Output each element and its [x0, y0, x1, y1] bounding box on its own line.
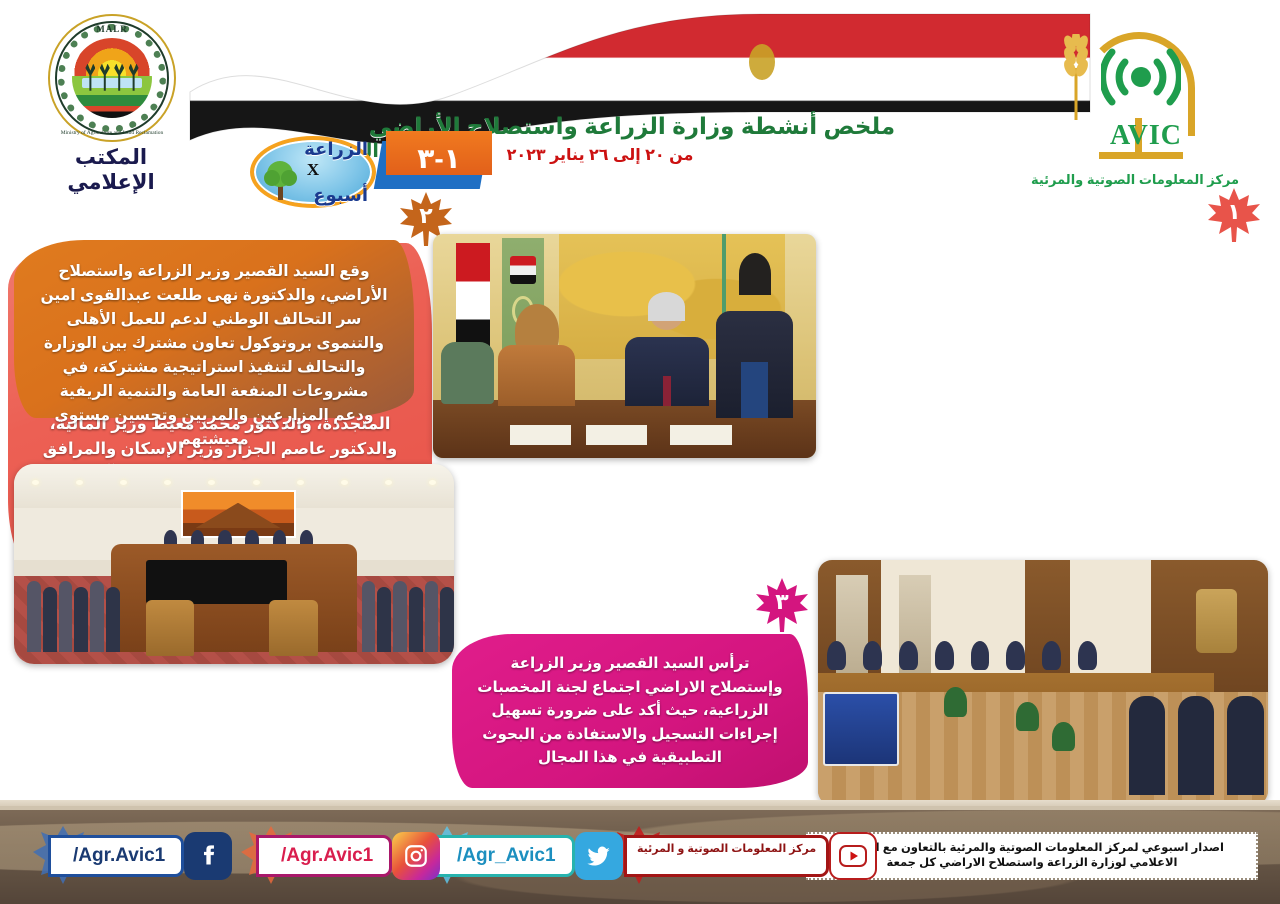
social-link-facebook[interactable]: /Agr.Avic1: [48, 832, 232, 880]
signing-ceremony-photo: [433, 234, 816, 458]
footer-note-text: اصدار اسبوعي لمركز المعلومات الصوتية وال…: [818, 841, 1246, 871]
instagram-handle: /Agr.Avic1: [256, 835, 392, 877]
page-range-tab: ١-٣: [386, 131, 492, 185]
week-badge-line3: أسبوع: [313, 185, 368, 206]
egypt-eagle-crest-icon: [1196, 589, 1237, 653]
social-link-twitter[interactable]: /Agr_Avic1: [432, 832, 623, 880]
page-range-label: ١-٣: [386, 131, 492, 185]
item-number-label-3: ٣: [754, 576, 810, 634]
cabinet-meeting-photo: [818, 560, 1268, 805]
person-signing-right: [625, 294, 709, 406]
social-link-instagram[interactable]: /Agr.Avic1: [256, 832, 440, 880]
person-standing: [716, 256, 793, 417]
facebook-handle: /Agr.Avic1: [48, 835, 184, 877]
youtube-icon: [829, 832, 877, 880]
malr-ministry-logo: MALR Ministry of Agriculture and Land Re…: [48, 14, 176, 142]
facebook-icon: [184, 832, 232, 880]
presentation-screen: [823, 692, 900, 766]
news-card-text-3: ترأس السيد القصير وزير الزراعة وإستصلاح …: [477, 655, 782, 766]
avic-name: AVIC: [1091, 120, 1201, 152]
youtube-handle: مركز المعلومات الصوتية و المرئية: [624, 835, 829, 877]
twitter-handle: /Agr_Avic1: [432, 835, 575, 877]
week-agriculture-badge: الزراعة X أسبوع: [250, 136, 376, 208]
news-card-2: وقع السيد القصير وزير الزراعة واستصلاح ا…: [14, 240, 414, 418]
malr-acronym: MALR: [48, 24, 176, 34]
week-badge-line1: الزراعة: [304, 139, 368, 160]
avic-logo: AVIC: [1055, 22, 1225, 172]
instagram-icon: [392, 832, 440, 880]
week-badge-line2: X: [250, 160, 376, 180]
committee-meeting-photo: [14, 464, 454, 664]
news-card-text-2: وقع السيد القصير وزير الزراعة واستصلاح ا…: [40, 263, 387, 448]
twitter-icon: [575, 832, 623, 880]
item-number-label-1: ١: [1206, 186, 1262, 244]
broadcast-signal-icon: [1101, 46, 1181, 108]
media-office-label: المكتب الإعلامي: [36, 145, 186, 195]
social-link-youtube[interactable]: مركز المعلومات الصوتية و المرئية: [624, 832, 877, 880]
page-header: MALR Ministry of Agriculture and Land Re…: [0, 0, 1280, 215]
malr-bottom-text: Ministry of Agriculture and Land Reclama…: [48, 130, 176, 136]
meeting-monitor: [146, 560, 287, 604]
news-card-3: ترأس السيد القصير وزير الزراعة وإستصلاح …: [452, 634, 808, 788]
person-signing-left: [498, 308, 575, 407]
item-number-badge-1: ١: [1206, 186, 1262, 244]
item-number-badge-3: ٣: [754, 576, 810, 634]
newsletter-page: MALR Ministry of Agriculture and Land Re…: [0, 0, 1280, 904]
